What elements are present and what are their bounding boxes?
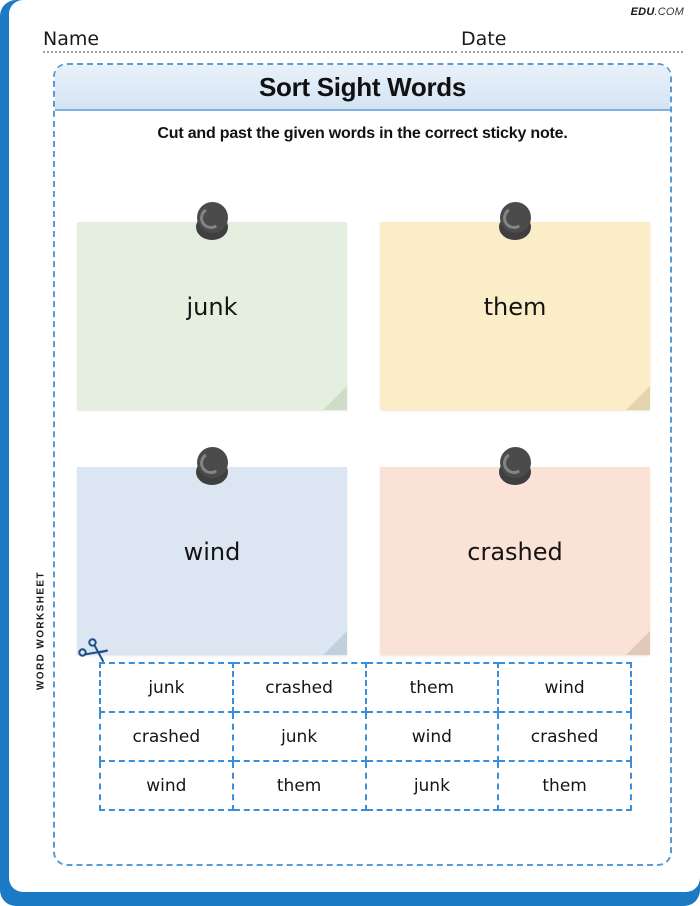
page-frame: EDU.COM Name Date Sort Sight Words Cut a… [0, 0, 700, 906]
sticky-notes-grid: junk them [77, 170, 652, 635]
sticky-note-crashed[interactable]: crashed [380, 445, 650, 655]
sticky-note-surface[interactable]: crashed [380, 467, 650, 655]
name-input-rule[interactable] [43, 51, 457, 53]
word-cell[interactable]: wind [498, 663, 631, 712]
brand-suffix: .COM [654, 6, 684, 18]
sticky-note-surface[interactable]: junk [77, 222, 347, 410]
brand-logo: EDU.COM [631, 6, 684, 18]
brand-primary: EDU [631, 6, 655, 18]
word-cell[interactable]: crashed [100, 712, 233, 761]
word-cell[interactable]: them [498, 761, 631, 810]
folded-corner-icon [323, 386, 347, 410]
sticky-note-surface[interactable]: wind [77, 467, 347, 655]
word-cell[interactable]: junk [233, 712, 366, 761]
side-label: WORD WORKSHEET [36, 571, 47, 691]
word-bank-table: junk crashed them wind crashed junk wind… [99, 662, 632, 811]
sticky-note-word: wind [77, 467, 347, 655]
word-cell[interactable]: junk [366, 761, 499, 810]
word-cell[interactable]: crashed [233, 663, 366, 712]
sticky-note-surface[interactable]: them [380, 222, 650, 410]
worksheet-panel: Sort Sight Words Cut and past the given … [53, 63, 672, 866]
table-row: wind them junk them [100, 761, 631, 810]
pushpin-icon [192, 200, 232, 244]
page-sheet: EDU.COM Name Date Sort Sight Words Cut a… [9, 0, 700, 892]
instruction-text: Cut and past the given words in the corr… [55, 125, 670, 143]
sticky-note-wind[interactable]: wind [77, 445, 347, 655]
sticky-note-them[interactable]: them [380, 200, 650, 410]
date-label: Date [461, 28, 506, 50]
table-row: junk crashed them wind [100, 663, 631, 712]
word-bank-body: junk crashed them wind crashed junk wind… [100, 663, 631, 810]
sticky-note-word: junk [77, 222, 347, 410]
sticky-note-junk[interactable]: junk [77, 200, 347, 410]
word-cell[interactable]: crashed [498, 712, 631, 761]
folded-corner-icon [323, 631, 347, 655]
table-row: crashed junk wind crashed [100, 712, 631, 761]
date-input-rule[interactable] [461, 51, 683, 53]
pushpin-icon [495, 200, 535, 244]
word-cell[interactable]: junk [100, 663, 233, 712]
worksheet-title-bar: Sort Sight Words [55, 65, 670, 111]
word-cell[interactable]: wind [100, 761, 233, 810]
word-cell[interactable]: them [233, 761, 366, 810]
pushpin-icon [192, 445, 232, 489]
folded-corner-icon [626, 386, 650, 410]
pushpin-icon [495, 445, 535, 489]
name-label: Name [43, 28, 99, 50]
word-cell[interactable]: wind [366, 712, 499, 761]
name-date-row: Name Date [43, 28, 683, 52]
folded-corner-icon [626, 631, 650, 655]
word-cell[interactable]: them [366, 663, 499, 712]
sticky-note-word: them [380, 222, 650, 410]
page-title: Sort Sight Words [259, 72, 466, 103]
sticky-note-word: crashed [380, 467, 650, 655]
